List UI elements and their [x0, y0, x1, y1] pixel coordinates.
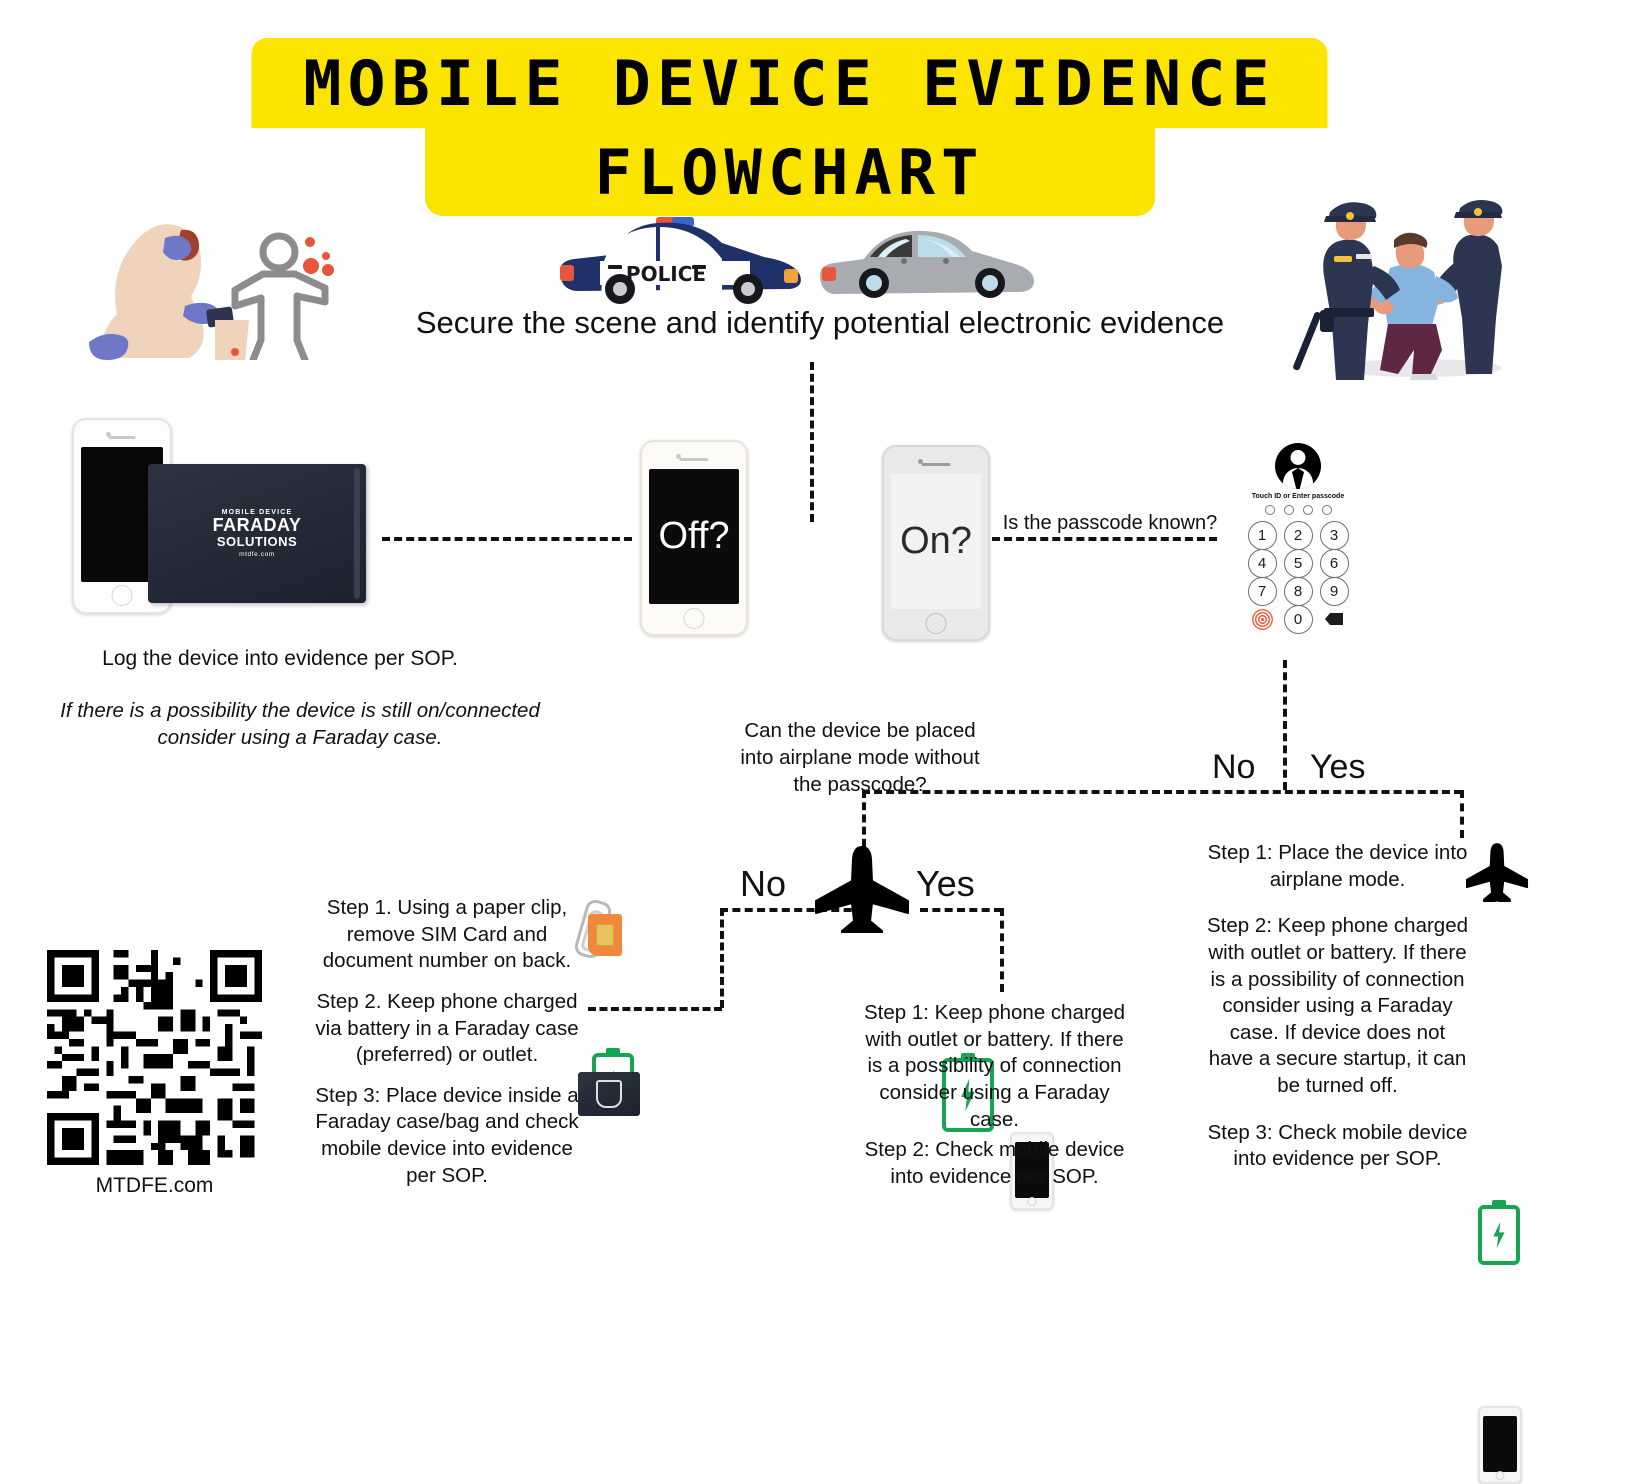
- faraday-case-image: MOBILE DEVICE FARADAY SOLUTIONS mtdfe.co…: [148, 464, 366, 603]
- avatar-icon: [1275, 443, 1321, 489]
- arrest-illustration: [1290, 190, 1520, 380]
- phone-home-button-icon: [684, 608, 705, 629]
- passcode-dot: [1265, 505, 1275, 515]
- lockscreen-keypad[interactable]: Touch ID or Enter passcode 1 2 3 4 5 6 7…: [1238, 443, 1358, 633]
- faraday-logo-sub-text: SOLUTIONS: [213, 535, 302, 549]
- passcode-dot: [1322, 505, 1332, 515]
- keypad-key-6[interactable]: 6: [1320, 549, 1349, 578]
- keypad-key-3[interactable]: 3: [1320, 521, 1349, 550]
- label-airplane-yes: Yes: [916, 863, 975, 905]
- connector-keypad-down: [1283, 660, 1287, 790]
- phone-on-node[interactable]: On?: [882, 445, 990, 641]
- civilian-car-illustration: [812, 225, 1037, 300]
- phone-speaker-icon: [679, 458, 708, 461]
- connector-airplane-no-down: [720, 908, 724, 1008]
- mid-step-1: Step 1: Keep phone charged with outlet o…: [862, 1000, 1127, 1133]
- keypad-key-4[interactable]: 4: [1248, 549, 1277, 578]
- phone-off-label: Off?: [658, 515, 729, 558]
- passcode-dot: [1284, 505, 1294, 515]
- police-car-illustration: POLICE: [548, 215, 813, 305]
- faraday-logo-main-text: FARADAY: [213, 516, 302, 535]
- phone-on-screen: On?: [891, 474, 980, 609]
- phone-icon: [1478, 1406, 1522, 1484]
- page-title-line-2: Flowchart: [425, 128, 1155, 216]
- left-step-2: Step 2. Keep phone charged via battery i…: [312, 989, 582, 1069]
- faraday-case-icon: [578, 1072, 640, 1116]
- connector-airplane-no-left: [588, 1007, 722, 1011]
- left-step-1: Step 1. Using a paper clip, remove SIM C…: [312, 895, 582, 975]
- qr-block[interactable]: MTDFE.com: [47, 950, 262, 1198]
- keypad-key-2[interactable]: 2: [1284, 521, 1313, 550]
- phone-speaker-icon: [109, 436, 136, 439]
- airplane-icon: [1464, 840, 1530, 902]
- label-passcode-no: No: [1212, 748, 1255, 787]
- sim-card-icon: [580, 900, 626, 958]
- forensic-investigator-illustration: [85, 190, 335, 360]
- passcode-dots: [1238, 505, 1358, 515]
- connector-yes-right-down: [1460, 790, 1464, 838]
- faraday-note-text: If there is a possibility the device is …: [30, 697, 570, 751]
- left-step-3: Step 3: Place device inside a Faraday ca…: [312, 1083, 582, 1190]
- label-airplane-no: No: [740, 863, 786, 905]
- right-steps-block: Step 1: Place the device into airplane m…: [1205, 840, 1470, 1193]
- qr-caption-text: MTDFE.com: [47, 1174, 262, 1198]
- keypad-key-0[interactable]: 0: [1284, 605, 1313, 634]
- page-title: Mobile Device Evidence Flowchart: [262, 38, 1317, 216]
- keypad-key-1[interactable]: 1: [1248, 521, 1277, 550]
- scene-instruction-text: Secure the scene and identify potential …: [375, 305, 1265, 341]
- airplane-icon: [812, 843, 912, 933]
- phone-home-button-icon: [112, 585, 133, 606]
- fingerprint-icon[interactable]: [1252, 609, 1273, 630]
- phone-on-label: On?: [900, 520, 972, 563]
- connector-on-to-passcode: [992, 537, 1217, 541]
- phone-off-screen: Off?: [649, 469, 738, 604]
- keypad-key-8[interactable]: 8: [1284, 577, 1313, 606]
- qr-code[interactable]: [47, 950, 262, 1165]
- label-passcode-yes: Yes: [1310, 748, 1365, 787]
- passcode-dot: [1303, 505, 1313, 515]
- phone-home-button-icon: [926, 613, 947, 634]
- left-steps-block: Step 1. Using a paper clip, remove SIM C…: [312, 895, 582, 1203]
- airplane-mode-question-text: Can the device be placed into airplane m…: [730, 717, 990, 798]
- faraday-logo: MOBILE DEVICE FARADAY SOLUTIONS mtdfe.co…: [213, 509, 302, 559]
- right-step-1: Step 1: Place the device into airplane m…: [1205, 840, 1470, 893]
- battery-icon: [1478, 1205, 1520, 1265]
- connector-scene-to-branches: [810, 362, 814, 522]
- keypad-key-9[interactable]: 9: [1320, 577, 1349, 606]
- page-title-line-1: Mobile Device Evidence: [251, 38, 1327, 128]
- mid-step-2: Step 2: Check mobile device into evidenc…: [862, 1137, 1127, 1190]
- phone-off-node[interactable]: Off?: [640, 440, 748, 636]
- passcode-question-text: Is the passcode known?: [995, 510, 1225, 536]
- right-step-3: Step 3: Check mobile device into evidenc…: [1205, 1120, 1470, 1173]
- keypad-grid[interactable]: 1 2 3 4 5 6 7 8 9 0: [1238, 521, 1358, 633]
- keypad-key-5[interactable]: 5: [1284, 549, 1313, 578]
- connector-airplane-yes-down: [1000, 908, 1004, 992]
- passcode-hint-text: Touch ID or Enter passcode: [1238, 493, 1358, 500]
- log-device-text: Log the device into evidence per SOP.: [60, 645, 500, 673]
- faraday-logo-url-text: mtdfe.com: [213, 552, 302, 559]
- phone-speaker-icon: [921, 463, 950, 466]
- connector-faraday-to-off: [382, 537, 632, 541]
- connector-airplane-yes: [920, 908, 1002, 912]
- keypad-key-7[interactable]: 7: [1248, 577, 1277, 606]
- backspace-icon[interactable]: [1325, 613, 1343, 625]
- right-step-2: Step 2: Keep phone charged with outlet o…: [1205, 913, 1470, 1099]
- mid-steps-block: Step 1: Keep phone charged with outlet o…: [862, 1000, 1127, 1194]
